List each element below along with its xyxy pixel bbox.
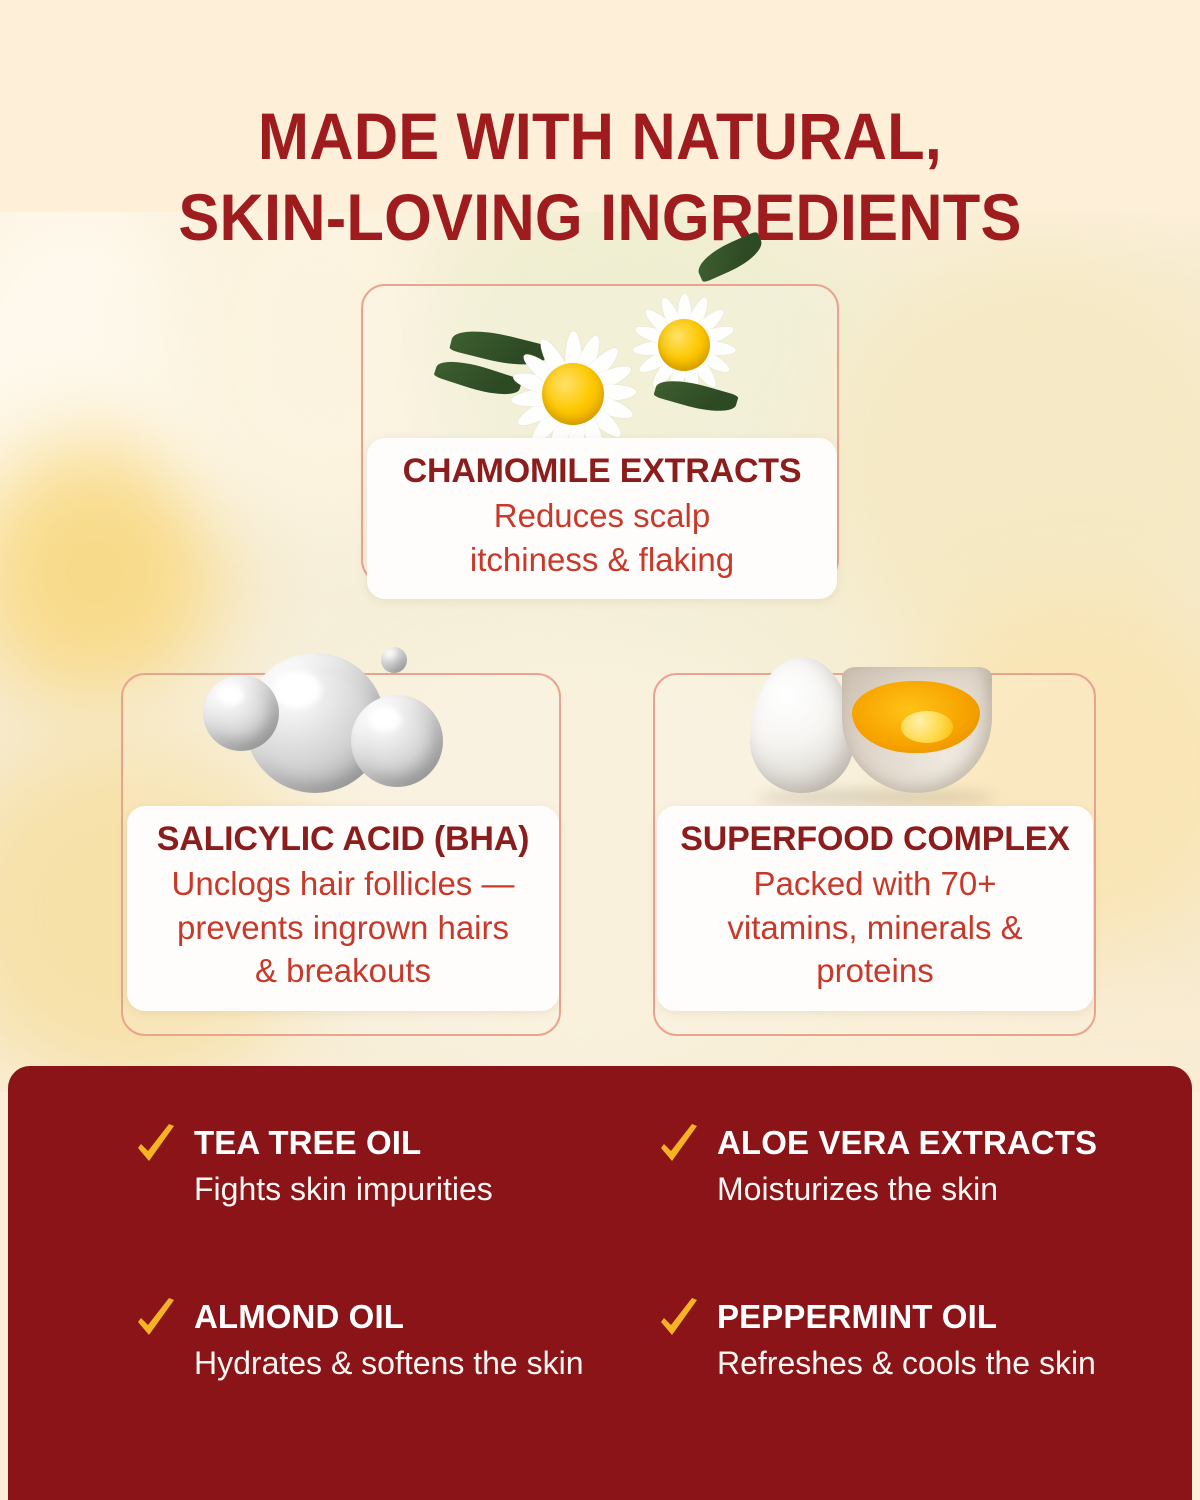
benefit-body: ALMOND OIL Hydrates & softens the skin <box>194 1296 584 1384</box>
benefit-item-almond-oil: ALMOND OIL Hydrates & softens the skin <box>136 1296 639 1470</box>
benefit-body: ALOE VERA EXTRACTS Moisturizes the skin <box>717 1122 1097 1210</box>
ingredient-card-salicylic-acid: BHA SALICYLIC ACID (BHA) Unclogs hair fo… <box>121 673 561 1036</box>
benefit-body: TEA TREE OIL Fights skin impurities <box>194 1122 493 1210</box>
bha-watermark-label: BHA <box>259 671 382 738</box>
ingredient-card-chamomile: CHAMOMILE EXTRACTS Reduces scalp itchine… <box>361 284 839 584</box>
checkmark-icon <box>659 1298 699 1342</box>
card-title-chamomile: CHAMOMILE EXTRACTS <box>381 452 823 490</box>
bubble-right <box>351 695 443 787</box>
egg-shadow <box>756 789 996 805</box>
card-text-chamomile: CHAMOMILE EXTRACTS Reduces scalp itchine… <box>367 438 837 599</box>
page-title: MADE WITH NATURAL, SKIN-LOVING INGREDIEN… <box>42 96 1158 257</box>
egg-icon <box>750 649 1050 824</box>
ingredients-infographic: MADE WITH NATURAL, SKIN-LOVING INGREDIEN… <box>0 0 1200 1500</box>
daisy-leaf-left-lower <box>433 353 522 402</box>
benefit-item-aloe-vera-extracts: ALOE VERA EXTRACTS Moisturizes the skin <box>659 1122 1162 1296</box>
card-desc-chamomile: Reduces scalp itchiness & flaking <box>381 494 823 581</box>
card-desc-superfood-complex: Packed with 70+ vitamins, minerals & pro… <box>671 862 1079 993</box>
egg-inner-yolk-pool <box>852 681 980 753</box>
card-text-salicylic-acid: SALICYLIC ACID (BHA) Unclogs hair follic… <box>127 806 559 1011</box>
benefit-desc-peppermint-oil: Refreshes & cools the skin <box>717 1342 1096 1384</box>
bubble-left <box>203 675 279 751</box>
benefit-desc-almond-oil: Hydrates & softens the skin <box>194 1342 584 1384</box>
ingredient-card-superfood-complex: SUPERFOOD COMPLEX Packed with 70+ vitami… <box>653 673 1096 1036</box>
checkmark-icon <box>659 1124 699 1168</box>
benefit-name-almond-oil: ALMOND OIL <box>194 1297 584 1337</box>
card-title-salicylic-acid: SALICYLIC ACID (BHA) <box>141 820 545 858</box>
egg-cracked-half <box>842 667 992 793</box>
daisy-leaf-lower-right <box>653 373 738 419</box>
benefit-name-aloe-vera-extracts: ALOE VERA EXTRACTS <box>717 1123 1097 1163</box>
checkmark-icon <box>136 1298 176 1342</box>
benefit-item-tea-tree-oil: TEA TREE OIL Fights skin impurities <box>136 1122 639 1296</box>
card-desc-salicylic-acid: Unclogs hair follicles — prevents ingrow… <box>141 862 545 993</box>
benefit-item-peppermint-oil: PEPPERMINT OIL Refreshes & cools the ski… <box>659 1296 1162 1470</box>
checkmark-icon <box>136 1124 176 1168</box>
benefit-body: PEPPERMINT OIL Refreshes & cools the ski… <box>717 1296 1096 1384</box>
daisy-leaf-left-upper <box>449 323 549 373</box>
daisy-back <box>609 270 759 420</box>
card-text-superfood-complex: SUPERFOOD COMPLEX Packed with 70+ vitami… <box>657 806 1093 1011</box>
benefits-panel: TEA TREE OIL Fights skin impurities ALOE… <box>8 1066 1192 1500</box>
card-title-superfood-complex: SUPERFOOD COMPLEX <box>671 820 1079 858</box>
egg-whole <box>750 657 854 793</box>
benefit-name-tea-tree-oil: TEA TREE OIL <box>194 1123 493 1163</box>
benefit-desc-tea-tree-oil: Fights skin impurities <box>194 1168 493 1210</box>
benefit-desc-aloe-vera-extracts: Moisturizes the skin <box>717 1168 1097 1210</box>
benefit-name-peppermint-oil: PEPPERMINT OIL <box>717 1297 1096 1337</box>
benefits-grid: TEA TREE OIL Fights skin impurities ALOE… <box>8 1066 1192 1500</box>
bubble-large <box>245 653 385 793</box>
egg-yolk <box>901 711 953 743</box>
